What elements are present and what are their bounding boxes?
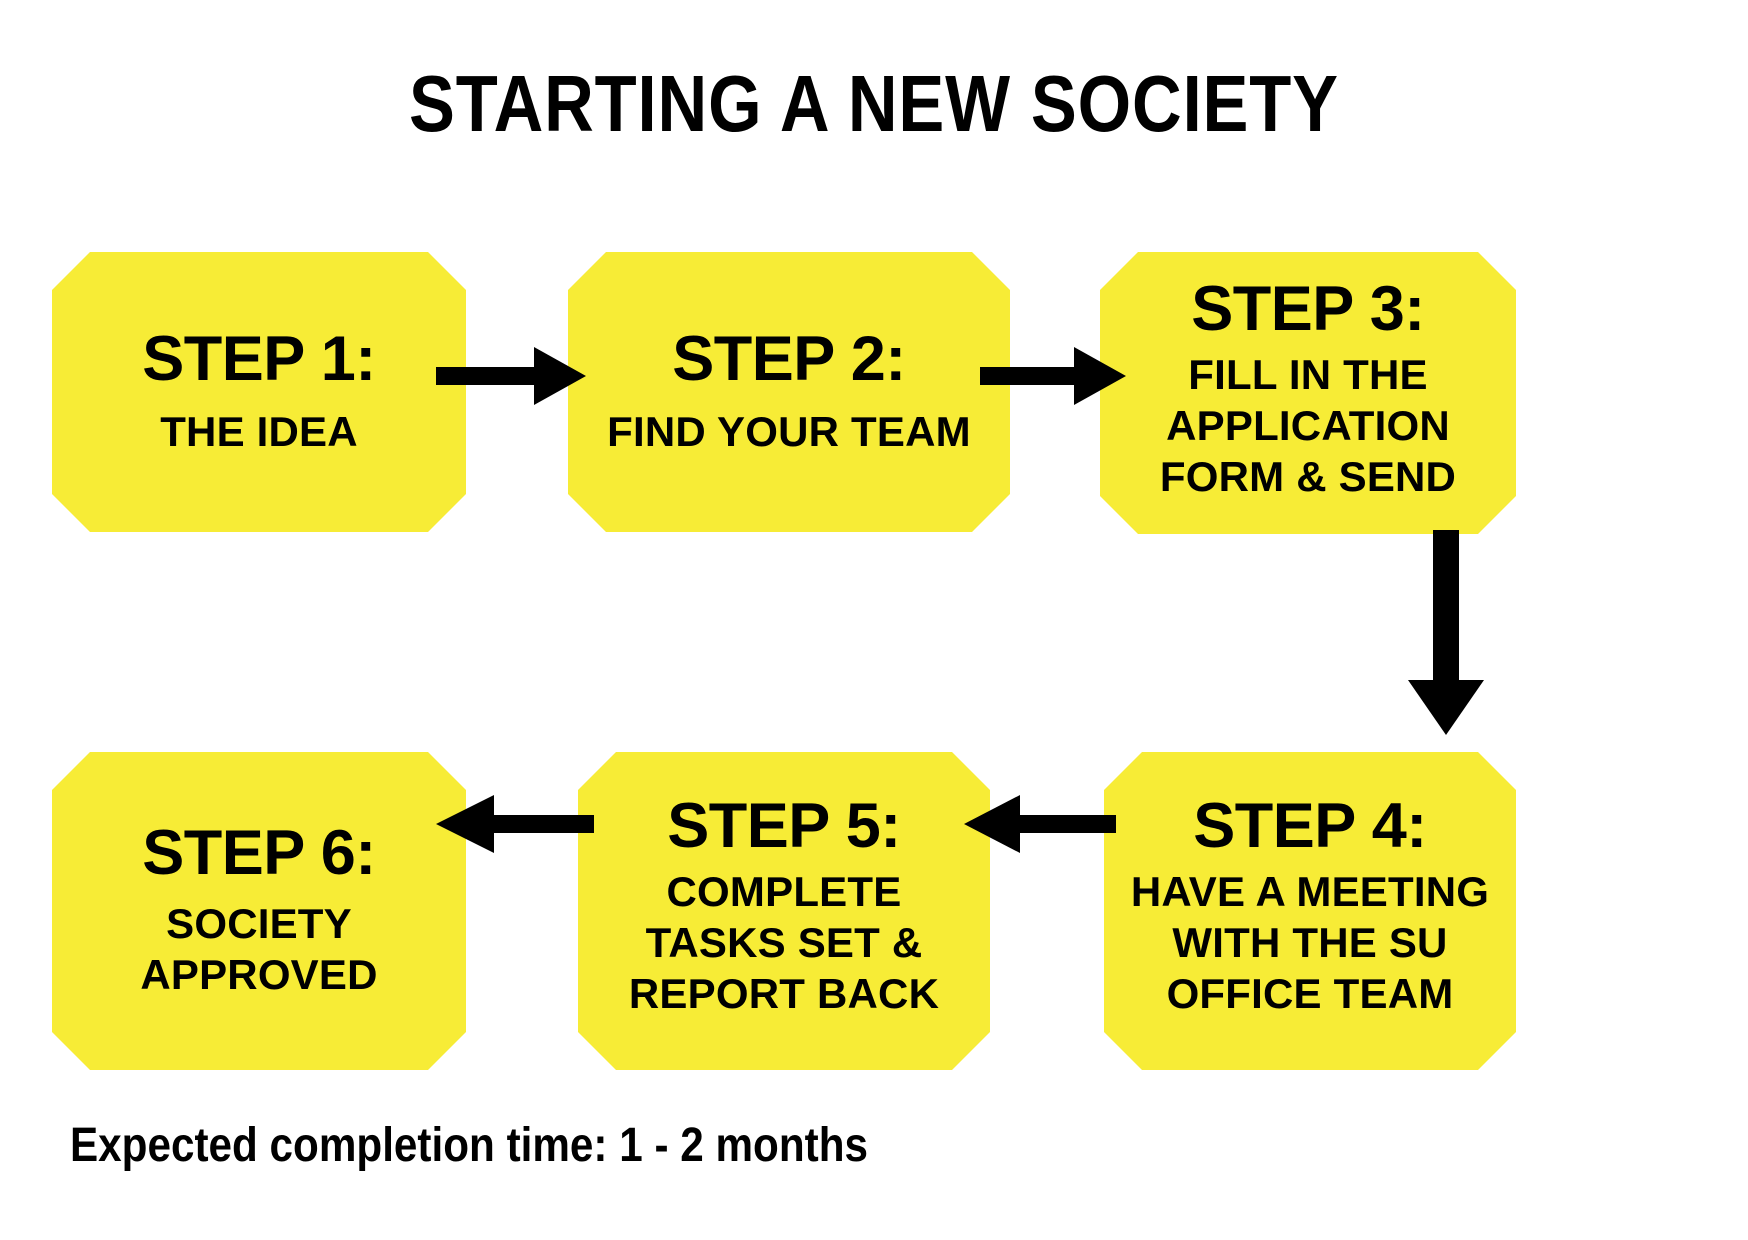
step-card-6: STEP 6: SOCIETY APPROVED [52, 752, 466, 1070]
step-5-body-line-2: TASKS SET & [629, 917, 939, 968]
step-2-body-line-1: FIND YOUR TEAM [607, 407, 971, 457]
step-card-2: STEP 2: FIND YOUR TEAM [568, 252, 1010, 532]
step-3-title: STEP 3: [1191, 278, 1424, 341]
arrow-down-icon-step3-to-step4 [1400, 530, 1492, 740]
step-6-title: STEP 6: [142, 822, 375, 885]
step-card-5: STEP 5: COMPLETE TASKS SET & REPORT BACK [578, 752, 990, 1070]
arrow-right-icon-step1-to-step2 [436, 342, 586, 410]
step-4-body-line-2: WITH THE SU [1131, 917, 1489, 968]
step-card-3: STEP 3: FILL IN THE APPLICATION FORM & S… [1100, 252, 1516, 534]
expected-completion-time-note: Expected completion time: 1 - 2 months [70, 1118, 868, 1173]
step-6-body: SOCIETY APPROVED [140, 899, 377, 1000]
step-6-body-line-2: APPROVED [140, 950, 377, 1000]
step-2-body: FIND YOUR TEAM [607, 407, 971, 457]
step-card-1: STEP 1: THE IDEA [52, 252, 466, 532]
step-5-body-line-3: REPORT BACK [629, 968, 939, 1019]
arrow-right-icon-step2-to-step3 [980, 342, 1126, 410]
arrow-left-icon-step5-to-step6 [432, 790, 594, 858]
step-5-body: COMPLETE TASKS SET & REPORT BACK [629, 866, 939, 1020]
step-6-body-line-1: SOCIETY [140, 899, 377, 949]
step-4-body: HAVE A MEETING WITH THE SU OFFICE TEAM [1131, 866, 1489, 1020]
step-5-body-line-1: COMPLETE [629, 866, 939, 917]
step-3-body-line-2: APPLICATION [1160, 400, 1456, 451]
step-1-title: STEP 1: [142, 328, 375, 391]
arrow-left-icon-step4-to-step5 [960, 790, 1116, 858]
step-2-title: STEP 2: [672, 328, 905, 391]
step-1-body-line-1: THE IDEA [160, 407, 358, 457]
step-1-body: THE IDEA [160, 407, 358, 457]
step-5-title: STEP 5: [667, 795, 900, 858]
step-4-body-line-1: HAVE A MEETING [1131, 866, 1489, 917]
step-3-body: FILL IN THE APPLICATION FORM & SEND [1160, 349, 1456, 503]
step-4-title: STEP 4: [1193, 795, 1426, 858]
step-4-body-line-3: OFFICE TEAM [1131, 968, 1489, 1019]
step-card-4: STEP 4: HAVE A MEETING WITH THE SU OFFIC… [1104, 752, 1516, 1070]
step-3-body-line-3: FORM & SEND [1160, 451, 1456, 502]
step-3-body-line-1: FILL IN THE [1160, 349, 1456, 400]
page-title: STARTING A NEW SOCIETY [122, 62, 1625, 146]
